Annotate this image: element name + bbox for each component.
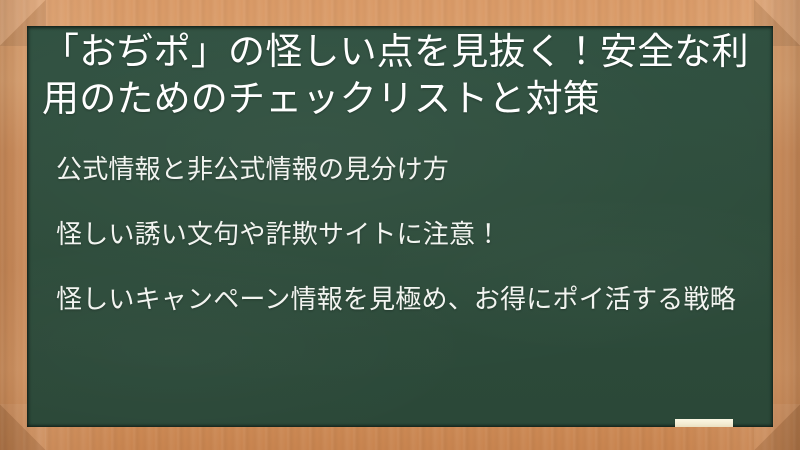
bullet-list: 公式情報と非公式情報の見分け方 怪しい誘い文句や詐欺サイトに注意！ 怪しいキャン… — [56, 150, 756, 319]
chalkboard-surface: 「おぢポ」の怪しい点を見抜く！安全な利用のためのチェックリストと対策 公式情報と… — [27, 26, 773, 427]
slide-canvas: 「おぢポ」の怪しい点を見抜く！安全な利用のためのチェックリストと対策 公式情報と… — [0, 0, 800, 450]
slide-title: 「おぢポ」の怪しい点を見抜く！安全な利用のためのチェックリストと対策 — [42, 28, 758, 123]
chalk-stick — [675, 419, 733, 427]
list-item: 怪しいキャンペーン情報を見極め、お得にポイ活する戦略 — [56, 280, 756, 319]
chalkboard-content: 「おぢポ」の怪しい点を見抜く！安全な利用のためのチェックリストと対策 公式情報と… — [27, 26, 773, 427]
list-item: 公式情報と非公式情報の見分け方 — [56, 150, 756, 189]
list-item: 怪しい誘い文句や詐欺サイトに注意！ — [56, 215, 756, 254]
